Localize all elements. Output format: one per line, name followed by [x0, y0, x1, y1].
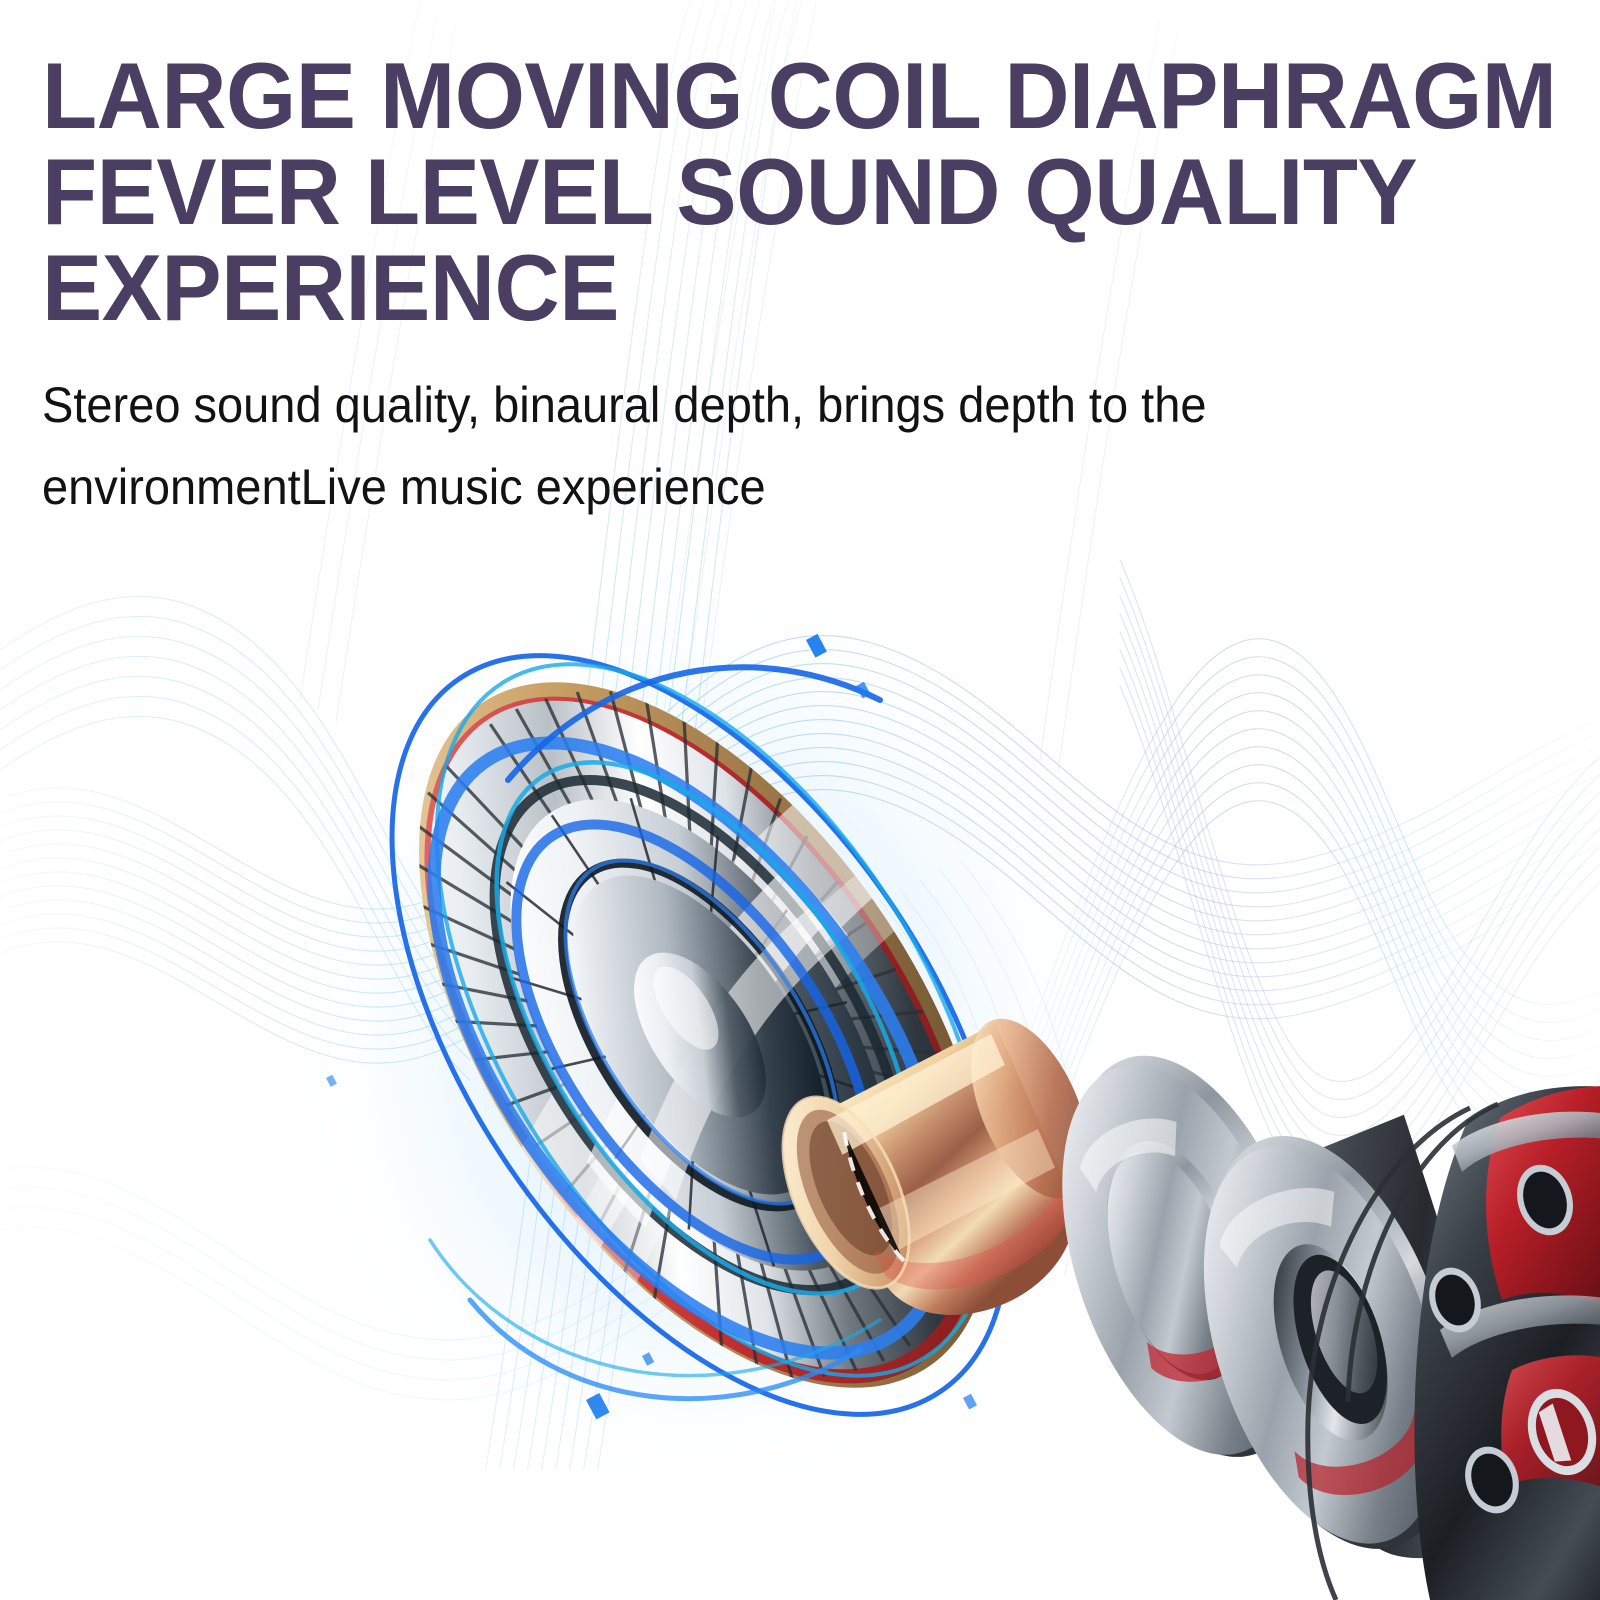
page-subtitle: Stereo sound quality, binaural depth, br… — [42, 364, 1478, 528]
subtitle-line-1: Stereo sound quality, binaural depth, br… — [42, 364, 1478, 446]
page-title: LARGE MOVING COIL DIAPHRAGM FEVER LEVEL … — [42, 48, 1509, 336]
magnet-washer — [1156, 1096, 1537, 1600]
driver-housing — [1308, 1086, 1600, 1600]
banner-root: LARGE MOVING COIL DIAPHRAGM FEVER LEVEL … — [0, 0, 1600, 1600]
voice-coil-ring — [757, 998, 1142, 1366]
headline-line-1: LARGE MOVING COIL DIAPHRAGM — [42, 48, 1509, 144]
driver-glow — [280, 560, 1120, 1520]
headline-line-2: FEVER LEVEL SOUND QUALITY — [42, 144, 1509, 240]
headline-line-3: EXPERIENCE — [42, 240, 1509, 336]
diaphragm-cone — [303, 583, 1107, 1487]
banner-text-block: LARGE MOVING COIL DIAPHRAGM FEVER LEVEL … — [0, 0, 1600, 528]
blue-sound-rings — [267, 549, 1133, 1521]
subtitle-line-2: environmentLive music experience — [42, 446, 1478, 528]
blue-spark-particles — [326, 634, 977, 1420]
magnet-plate-front — [1011, 1008, 1363, 1505]
housing-bolt-holes — [1421, 1157, 1600, 1520]
